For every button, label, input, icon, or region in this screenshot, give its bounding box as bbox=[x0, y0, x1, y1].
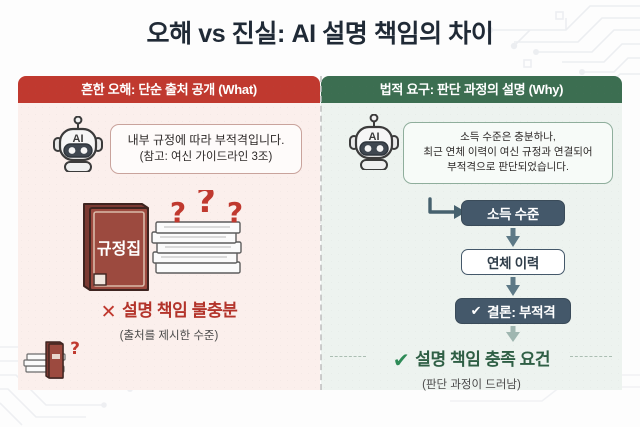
right-verdict-text: 설명 책임 충족 요건 bbox=[415, 350, 550, 369]
right-verdict-dash-right bbox=[570, 356, 612, 357]
svg-text:?: ? bbox=[227, 196, 243, 229]
right-bubble-line-1: 소득 수준은 충분하나, bbox=[413, 130, 603, 145]
robot-avatar-right: AI bbox=[348, 114, 400, 170]
left-verdict-main: ✕설명 책임 불충분 bbox=[18, 296, 320, 324]
flow-arrow-1-icon bbox=[505, 228, 521, 248]
svg-text:?: ? bbox=[196, 190, 216, 221]
right-bubble-line-2: 최근 연체 이력이 여신 규정과 연결되어 bbox=[413, 145, 603, 160]
right-panel-header: 법적 요구: 판단 과정의 설명 (Why) bbox=[321, 76, 622, 103]
flow-box-3-label: 결론: 부적격 bbox=[487, 301, 555, 321]
right-verdict-dash-left bbox=[330, 356, 366, 357]
svg-text:AI: AI bbox=[73, 133, 84, 145]
left-verdict-text: 설명 책임 불충분 bbox=[122, 301, 237, 320]
left-speech-bubble: 내부 규정에 따라 부적격입니다. (참고: 여신 가이드라인 3조) bbox=[110, 124, 302, 174]
right-speech-bubble: 소득 수준은 충분하나, 최근 연체 이력이 여신 규정과 연결되어 부적격으로… bbox=[403, 122, 613, 184]
right-verdict: ✔설명 책임 충족 요건 (판단 과정이 드러남) bbox=[321, 345, 622, 392]
svg-text:AI: AI bbox=[369, 131, 380, 143]
flow-box-1-label: 소득 수준 bbox=[487, 203, 539, 223]
infographic-canvas: 오해 vs 진실: AI 설명 책임의 차이 DIZZO.COM 흔한 오해: … bbox=[0, 0, 640, 427]
right-verdict-sub: (판단 과정이 드러남) bbox=[321, 376, 622, 392]
flow-arrow-2-icon bbox=[505, 277, 521, 297]
right-verdict-main: ✔설명 책임 충족 요건 bbox=[321, 345, 622, 373]
left-panel-header: 흔한 오해: 단순 출처 공개 (What) bbox=[18, 76, 320, 103]
page-title: 오해 vs 진실: AI 설명 책임의 차이 bbox=[0, 14, 640, 50]
small-rulebook-icon: ? bbox=[22, 336, 84, 384]
left-bubble-line-1: 내부 규정에 따라 부적격입니다. bbox=[120, 132, 292, 149]
flow-box-3-check-icon: ✔ bbox=[471, 303, 482, 319]
flow-box-2-label: 연체 이력 bbox=[487, 252, 539, 272]
svg-text:?: ? bbox=[170, 196, 186, 229]
svg-text:?: ? bbox=[70, 339, 80, 359]
right-bubble-line-3: 부적격으로 판단되었습니다. bbox=[413, 160, 603, 175]
flow-box-1: 소득 수준 bbox=[461, 200, 565, 226]
flow-box-2: 연체 이력 bbox=[461, 249, 565, 275]
flow-arrow-3-icon bbox=[505, 326, 521, 344]
robot-avatar-left: AI bbox=[52, 116, 104, 172]
panel-divider bbox=[320, 76, 322, 390]
svg-text:규정집: 규정집 bbox=[97, 239, 141, 258]
check-mark-icon: ✔ bbox=[393, 348, 409, 373]
flow-box-3: ✔ 결론: 부적격 bbox=[455, 298, 571, 324]
left-bubble-line-2: (참고: 여신 가이드라인 3조) bbox=[120, 149, 292, 166]
cross-mark-icon: ✕ bbox=[101, 301, 117, 324]
rulebook-illustration: 규정집 ? ? ? bbox=[60, 190, 260, 295]
